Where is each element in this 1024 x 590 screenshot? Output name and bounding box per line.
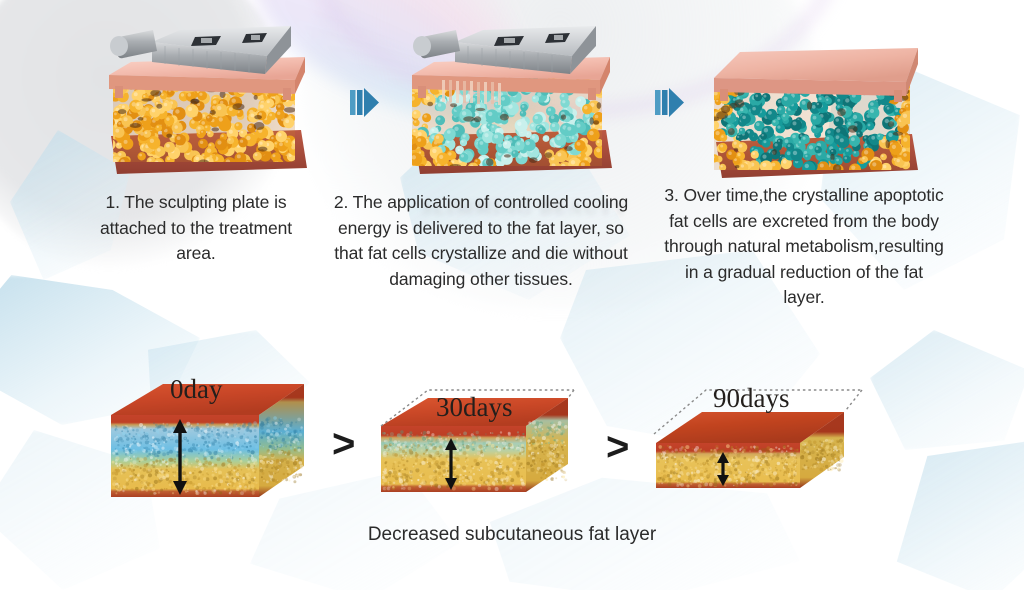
- forward-arrow-icon-1: [350, 86, 380, 120]
- timeline-block-90days: 90days: [650, 388, 865, 503]
- infographic-canvas: SLIMMING BEAUTY: [0, 0, 1024, 590]
- step-3-caption: 3. Over time,the crystalline apoptotic f…: [663, 183, 945, 311]
- step-2-caption: 2. The application of controlled cooling…: [325, 190, 637, 292]
- timeline-label-30days: 30days: [436, 392, 513, 423]
- step-3-illustration: [700, 20, 940, 185]
- timeline-block-0day: 0day: [108, 378, 333, 508]
- timeline-label-90days: 90days: [713, 383, 790, 414]
- step-1-illustration-svg: [95, 18, 330, 183]
- step-1-illustration: [95, 18, 330, 183]
- comparator-2: >: [606, 427, 629, 467]
- step-2-illustration-svg: [400, 18, 635, 183]
- timeline-label-0day: 0day: [170, 374, 222, 405]
- ice-shard-icon: [890, 440, 1024, 590]
- step-3-illustration-svg: [700, 20, 940, 185]
- ice-shard-icon: [870, 330, 1024, 450]
- comparator-1: >: [332, 424, 355, 464]
- timeline-caption: Decreased subcutaneous fat layer: [0, 524, 1024, 546]
- step-1-caption: 1. The sculpting plate is attached to th…: [78, 190, 314, 267]
- cooling-rays: [442, 80, 501, 105]
- timeline-block-30days: 30days: [378, 388, 593, 508]
- step-2-illustration: [400, 18, 635, 183]
- forward-arrow-icon-2: [655, 86, 685, 120]
